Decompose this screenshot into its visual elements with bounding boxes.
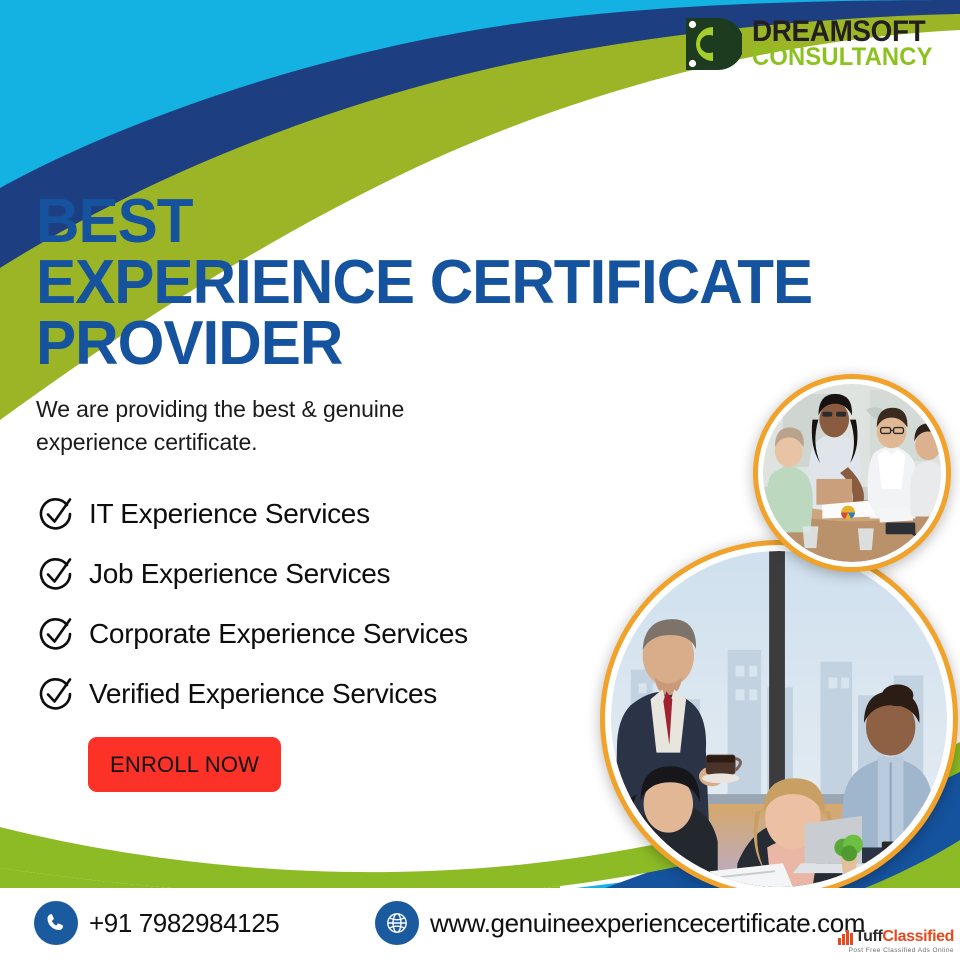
website-url: www.genuineexperiencecertificate.com [430, 908, 865, 939]
feature-item-job: Job Experience Services [36, 544, 468, 604]
feature-item-verified: Verified Experience Services [36, 664, 468, 724]
check-circle-icon [36, 614, 76, 654]
feature-label: Verified Experience Services [89, 678, 437, 710]
subtitle-line-2: experience certificate. [36, 426, 404, 459]
check-circle-icon [36, 494, 76, 534]
subtitle: We are providing the best & genuine expe… [36, 393, 404, 458]
team-office-photo-large-image [611, 551, 947, 887]
headline-line-1: BEST [36, 192, 812, 253]
dreamsoft-logo-icon [682, 14, 742, 74]
logo-name-primary: DREAMSOFT [752, 18, 929, 46]
watermark-name-secondary: Classified [882, 928, 954, 945]
team-office-photo-large [600, 540, 958, 898]
logo-name-secondary: CONSULTANCY [752, 46, 933, 69]
feature-item-corporate: Corporate Experience Services [36, 604, 468, 664]
headline: BEST EXPERIENCE CERTIFICATE PROVIDER [36, 192, 812, 374]
check-circle-icon [36, 674, 76, 714]
check-circle-icon [36, 554, 76, 594]
globe-icon [375, 901, 419, 945]
headline-line-3: PROVIDER [36, 314, 812, 375]
team-meeting-photo-small [753, 374, 951, 572]
contact-phone[interactable]: +91 7982984125 [34, 901, 279, 945]
phone-number: +91 7982984125 [89, 908, 279, 939]
feature-label: Job Experience Services [89, 558, 390, 590]
tuffclassified-watermark: TuffClassified Post Free Classified Ads … [838, 929, 954, 954]
footer-contact-bar: +91 7982984125 www.genuineexperiencecert… [0, 888, 960, 960]
headline-line-2: EXPERIENCE CERTIFICATE [36, 253, 812, 314]
enroll-now-button[interactable]: ENROLL NOW [88, 737, 281, 792]
brand-logo: DREAMSOFT CONSULTANCY [682, 14, 942, 74]
promo-banner: DREAMSOFT CONSULTANCY BEST EXPERIENCE CE… [0, 0, 960, 960]
team-meeting-photo-small-image [763, 384, 941, 562]
phone-icon [34, 901, 78, 945]
subtitle-line-1: We are providing the best & genuine [36, 393, 404, 426]
watermark-name-primary: Tuff [855, 928, 882, 945]
contact-website[interactable]: www.genuineexperiencecertificate.com [375, 901, 865, 945]
feature-label: IT Experience Services [89, 498, 370, 530]
feature-item-it: IT Experience Services [36, 484, 468, 544]
watermark-tagline: Post Free Classified Ads Online [838, 947, 954, 954]
bar-chart-icon [838, 930, 853, 945]
feature-list: IT Experience Services Job Experience Se… [36, 484, 468, 724]
feature-label: Corporate Experience Services [89, 618, 468, 650]
